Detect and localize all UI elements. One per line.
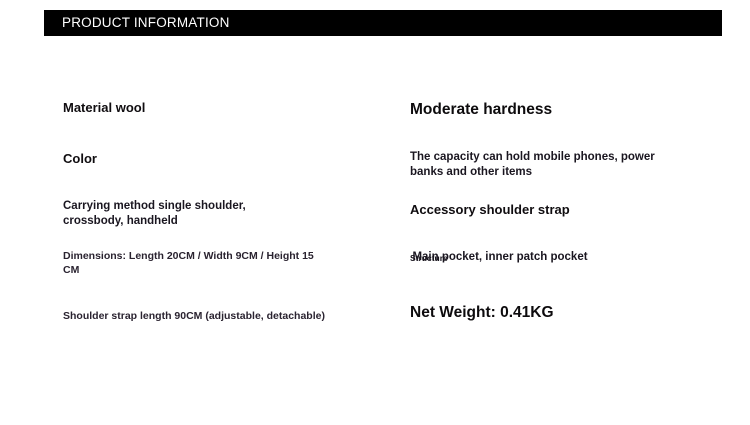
- spec-accessory: Accessory shoulder strap: [410, 201, 570, 218]
- spec-structure-value: Main pocket, inner patch pocket: [410, 250, 590, 265]
- spec-material: Material wool: [63, 99, 145, 116]
- spec-dimensions: Dimensions: Length 20CM / Width 9CM / He…: [63, 249, 328, 277]
- section-header-title: PRODUCT INFORMATION: [62, 13, 230, 33]
- product-information-page: PRODUCT INFORMATION Material wool Color …: [0, 0, 750, 425]
- spec-structure-group: Structure Main pocket, inner patch pocke…: [410, 250, 590, 284]
- spec-color: Color: [63, 150, 97, 167]
- spec-net-weight: Net Weight: 0.41KG: [410, 303, 554, 323]
- spec-hardness: Moderate hardness: [410, 100, 552, 120]
- spec-shoulder-strap-length: Shoulder strap length 90CM (adjustable, …: [63, 309, 363, 323]
- spec-carrying-method: Carrying method single shoulder, crossbo…: [63, 199, 273, 229]
- spec-capacity: The capacity can hold mobile phones, pow…: [410, 150, 665, 180]
